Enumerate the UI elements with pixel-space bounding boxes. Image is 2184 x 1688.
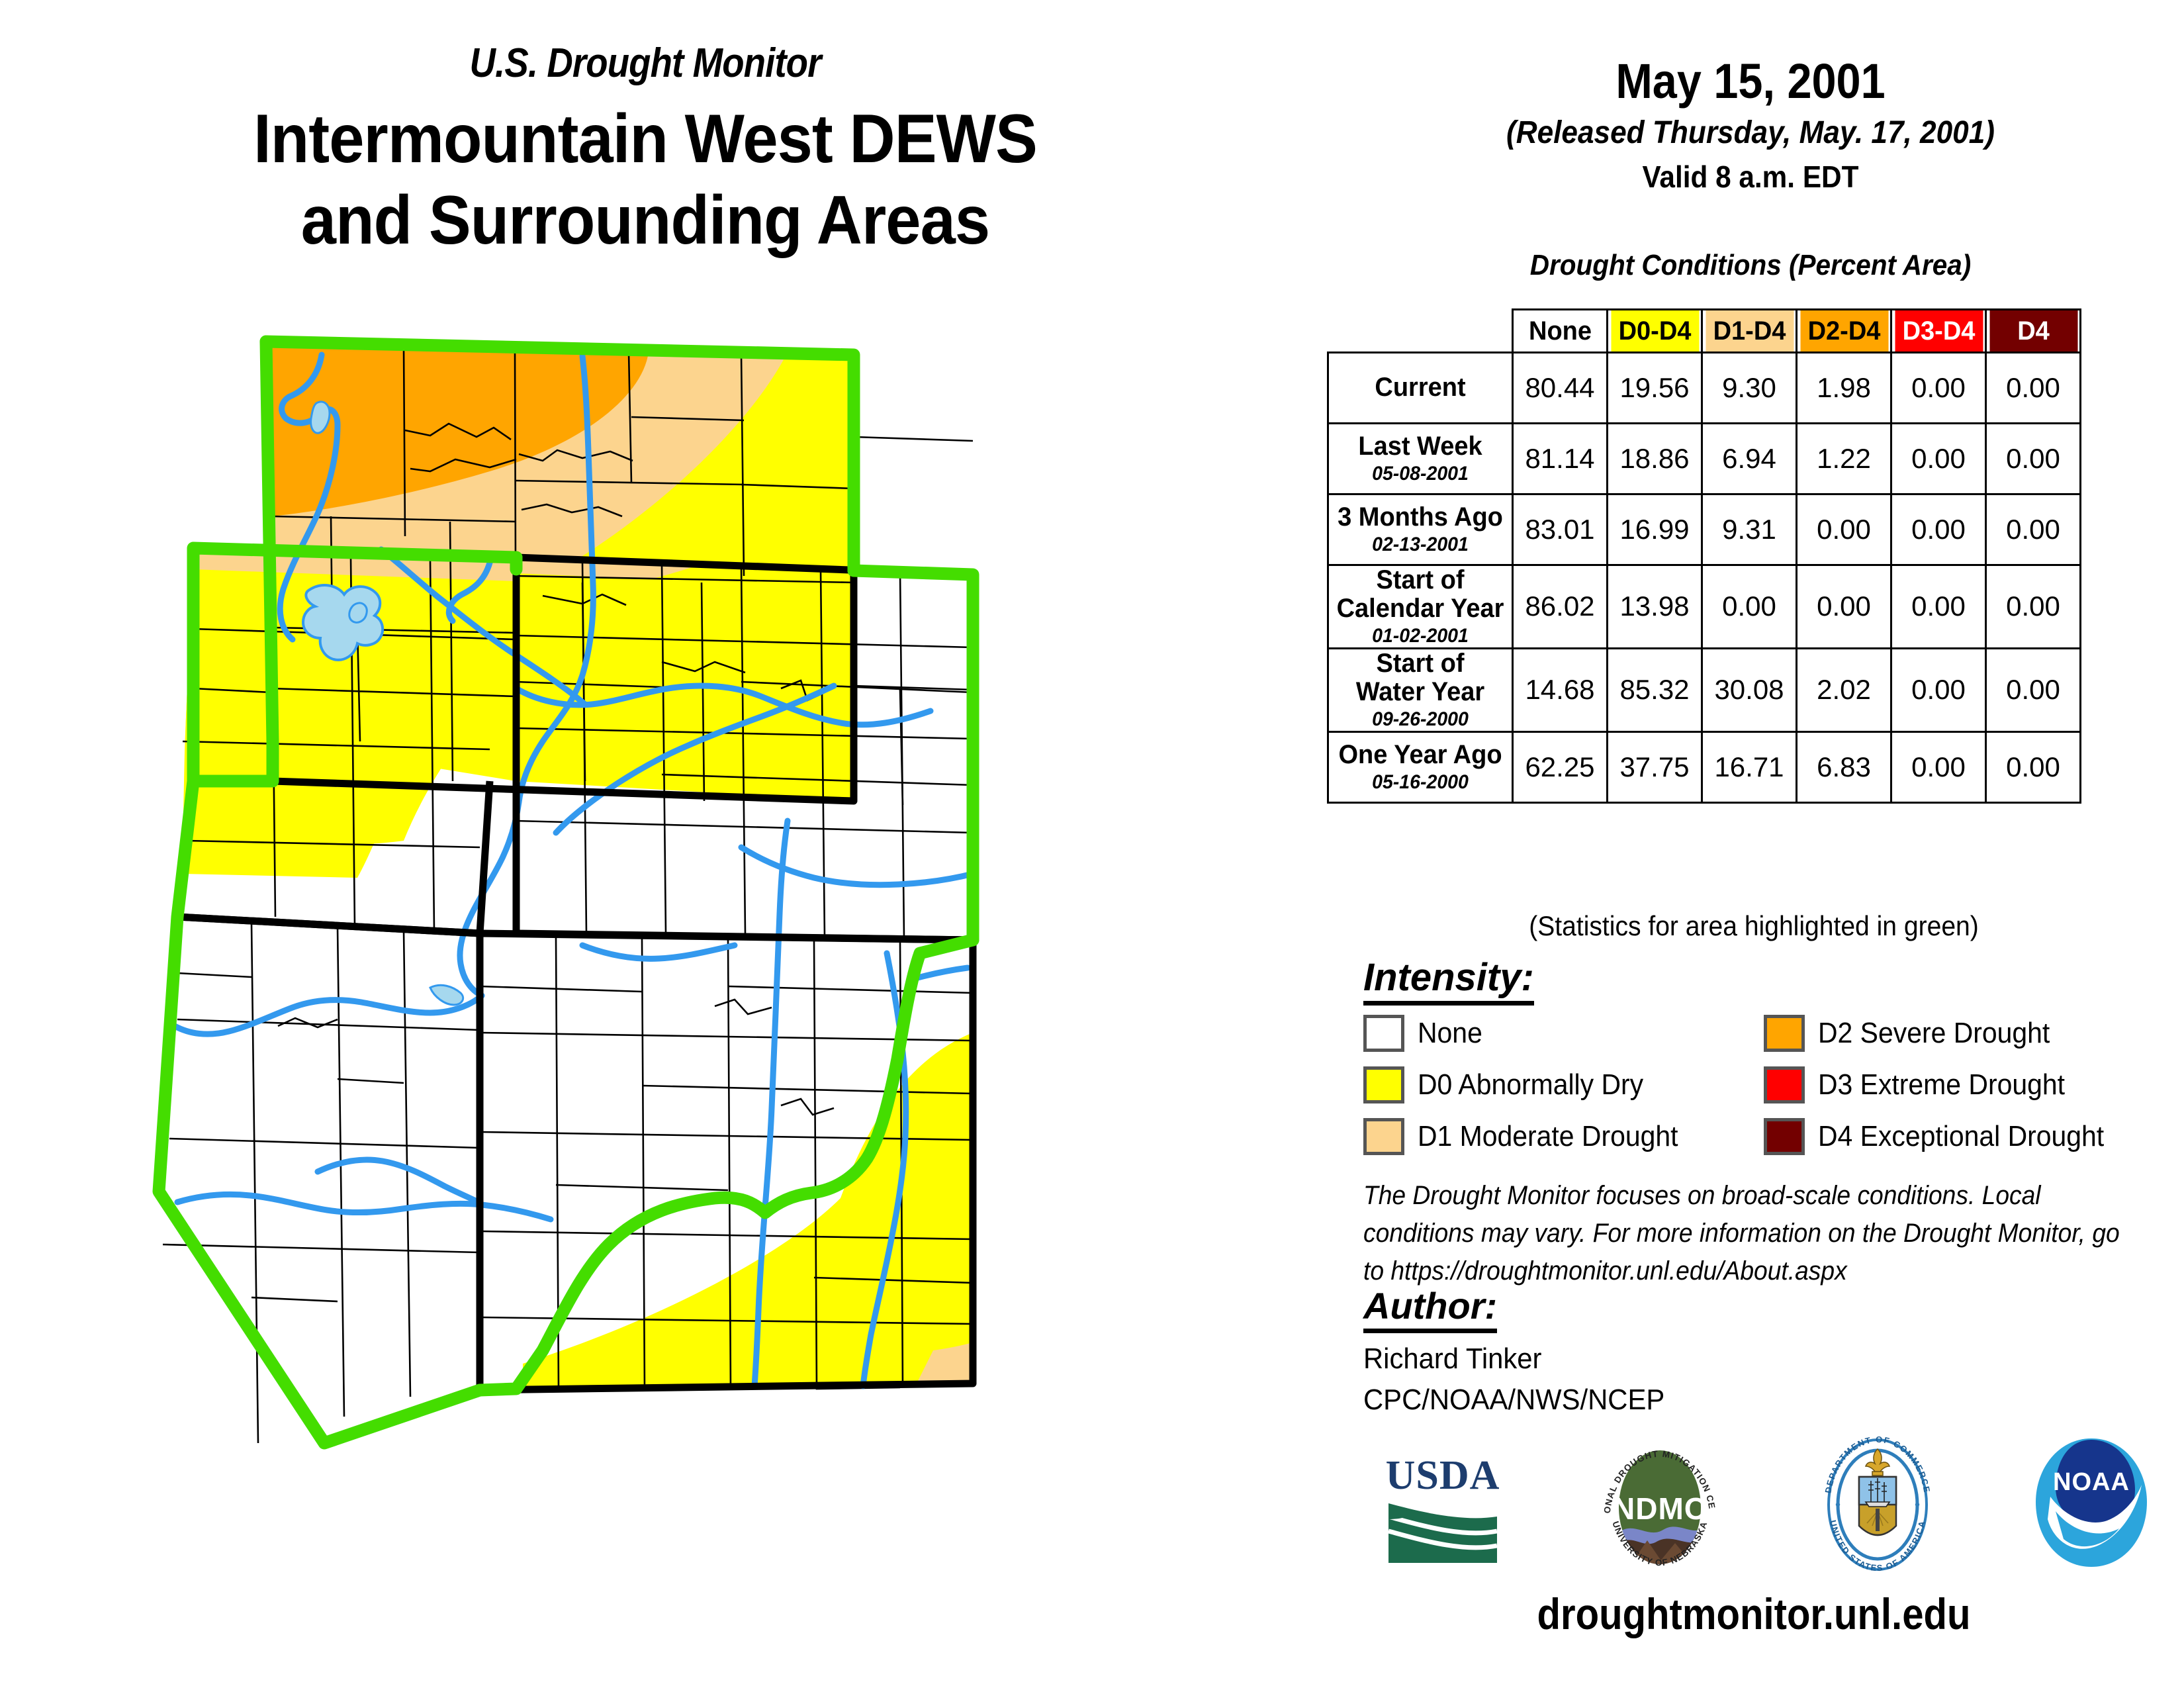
author-heading: Author: bbox=[1363, 1284, 1497, 1333]
cell-d2-d4: 1.98 bbox=[1797, 353, 1891, 424]
author-info: Richard Tinker CPC/NOAA/NWS/NCEP bbox=[1363, 1338, 1664, 1421]
cell-d3-d4: 0.00 bbox=[1891, 424, 1986, 494]
release-date: (Released Thursday, May. 17, 2001) bbox=[1351, 115, 2149, 151]
legend-label: D3 Extreme Drought bbox=[1818, 1068, 2065, 1102]
page-title-line2: and Surrounding Areas bbox=[52, 180, 1239, 261]
column-header-d4: D4 bbox=[1988, 310, 2078, 353]
table-row: Last Week05-08-200181.1418.866.941.220.0… bbox=[1328, 424, 2081, 494]
legend-item-d2: D2 Severe Drought bbox=[1764, 1015, 2164, 1052]
column-header-d3-d4: D3-D4 bbox=[1893, 310, 1983, 353]
legend-item-none: None bbox=[1363, 1015, 1764, 1052]
legend-label: None bbox=[1418, 1017, 1482, 1050]
table-footnote: (Statistics for area highlighted in gree… bbox=[1347, 910, 2160, 942]
logo-strip: USDA NDMC NATIONAL DROUGHT bbox=[1377, 1430, 2158, 1582]
cell-none: 80.44 bbox=[1513, 353, 1608, 424]
row-label: Start ofWater Year09-26-2000 bbox=[1328, 648, 1513, 731]
cell-d0-d4: 37.75 bbox=[1608, 731, 1702, 802]
row-date: 05-16-2000 bbox=[1334, 772, 1507, 793]
svg-text:USDA: USDA bbox=[1386, 1453, 1500, 1498]
author-affiliation: CPC/NOAA/NWS/NCEP bbox=[1363, 1380, 1664, 1421]
drought-conditions-table: NoneD0-D4D1-D4D2-D4D3-D4D4 Current80.441… bbox=[1327, 308, 2081, 804]
legend-label: D2 Severe Drought bbox=[1818, 1017, 2050, 1050]
row-label: One Year Ago05-16-2000 bbox=[1328, 731, 1513, 802]
cell-d1-d4: 0.00 bbox=[1702, 565, 1797, 649]
legend-label: D4 Exceptional Drought bbox=[1818, 1120, 2104, 1153]
svg-text:NOAA: NOAA bbox=[2053, 1468, 2130, 1496]
cell-d4: 0.00 bbox=[1986, 648, 2081, 731]
valid-date: May 15, 2001 bbox=[1361, 53, 2141, 109]
table-header-row: NoneD0-D4D1-D4D2-D4D3-D4D4 bbox=[1328, 310, 2081, 353]
row-label: 3 Months Ago02-13-2001 bbox=[1328, 494, 1513, 565]
column-header-none: None bbox=[1515, 310, 1605, 353]
disclaimer-text: The Drought Monitor focuses on broad-sca… bbox=[1363, 1177, 2120, 1289]
row-label: Start ofCalendar Year01-02-2001 bbox=[1328, 565, 1513, 649]
svg-text:NDMC: NDMC bbox=[1613, 1491, 1707, 1526]
row-label: Current bbox=[1328, 353, 1513, 424]
legend-label: D0 Abnormally Dry bbox=[1418, 1068, 1643, 1102]
cell-d2-d4: 6.83 bbox=[1797, 731, 1891, 802]
site-url: droughtmonitor.unl.edu bbox=[1369, 1589, 2138, 1639]
legend-swatch bbox=[1764, 1015, 1805, 1052]
valid-time: Valid 8 a.m. EDT bbox=[1351, 159, 2149, 195]
row-date: 02-13-2001 bbox=[1334, 534, 1507, 555]
cell-d1-d4: 9.30 bbox=[1702, 353, 1797, 424]
cell-d0-d4: 19.56 bbox=[1608, 353, 1702, 424]
legend-row: NoneD2 Severe Drought bbox=[1363, 1008, 2164, 1059]
cell-d3-d4: 0.00 bbox=[1891, 494, 1986, 565]
row-date: 01-02-2001 bbox=[1334, 626, 1507, 647]
legend-swatch bbox=[1764, 1118, 1805, 1155]
table-row: Start ofCalendar Year01-02-200186.0213.9… bbox=[1328, 565, 2081, 649]
cell-d2-d4: 0.00 bbox=[1797, 494, 1891, 565]
cell-none: 81.14 bbox=[1513, 424, 1608, 494]
column-header-d1-d4: D1-D4 bbox=[1704, 310, 1794, 353]
legend-item-d3: D3 Extreme Drought bbox=[1764, 1066, 2164, 1103]
cell-none: 62.25 bbox=[1513, 731, 1608, 802]
cell-none: 14.68 bbox=[1513, 648, 1608, 731]
legend-swatch bbox=[1363, 1118, 1404, 1155]
row-date: 09-26-2000 bbox=[1334, 709, 1507, 730]
cell-none: 83.01 bbox=[1513, 494, 1608, 565]
cell-d4: 0.00 bbox=[1986, 494, 2081, 565]
table-row: Start ofWater Year09-26-200014.6885.3230… bbox=[1328, 648, 2081, 731]
cell-d3-d4: 0.00 bbox=[1891, 565, 1986, 649]
table-caption: Drought Conditions (Percent Area) bbox=[1351, 249, 2149, 282]
cell-d0-d4: 16.99 bbox=[1608, 494, 1702, 565]
cell-d4: 0.00 bbox=[1986, 731, 2081, 802]
table-row: One Year Ago05-16-200062.2537.7516.716.8… bbox=[1328, 731, 2081, 802]
legend-item-d0: D0 Abnormally Dry bbox=[1363, 1066, 1764, 1103]
column-header-d0-d4: D0-D4 bbox=[1610, 310, 1700, 353]
cell-d2-d4: 2.02 bbox=[1797, 648, 1891, 731]
drought-map bbox=[119, 318, 1152, 1562]
cell-d0-d4: 13.98 bbox=[1608, 565, 1702, 649]
legend-label: D1 Moderate Drought bbox=[1418, 1120, 1678, 1153]
cell-d4: 0.00 bbox=[1986, 353, 2081, 424]
cell-d1-d4: 6.94 bbox=[1702, 424, 1797, 494]
intensity-heading: Intensity: bbox=[1363, 955, 1534, 1006]
cell-d4: 0.00 bbox=[1986, 565, 2081, 649]
ndmc-logo: NDMC NATIONAL DROUGHT MITIGATION CENTER … bbox=[1590, 1433, 1729, 1579]
cell-d1-d4: 16.71 bbox=[1702, 731, 1797, 802]
legend-row: D0 Abnormally DryD3 Extreme Drought bbox=[1363, 1059, 2164, 1111]
table-corner-blank bbox=[1332, 310, 1508, 353]
table-row: 3 Months Ago02-13-200183.0116.999.310.00… bbox=[1328, 494, 2081, 565]
legend-swatch bbox=[1764, 1066, 1805, 1103]
cell-d1-d4: 9.31 bbox=[1702, 494, 1797, 565]
doc-logo: DEPARTMENT OF COMMERCE UNITED STATES OF … bbox=[1811, 1433, 1944, 1579]
noaa-logo: NOAA bbox=[2025, 1433, 2158, 1579]
legend-swatch bbox=[1363, 1066, 1404, 1103]
legend-swatch bbox=[1363, 1015, 1404, 1052]
cell-d3-d4: 0.00 bbox=[1891, 353, 1986, 424]
column-header-d2-d4: D2-D4 bbox=[1799, 310, 1889, 353]
usda-logo: USDA bbox=[1377, 1438, 1509, 1574]
cell-d0-d4: 18.86 bbox=[1608, 424, 1702, 494]
title-block: U.S. Drought Monitor Intermountain West … bbox=[0, 40, 1291, 261]
author-name: Richard Tinker bbox=[1363, 1338, 1664, 1380]
table-row: Current80.4419.569.301.980.000.00 bbox=[1328, 353, 2081, 424]
table-body: Current80.4419.569.301.980.000.00Last We… bbox=[1328, 353, 2081, 803]
cell-d0-d4: 85.32 bbox=[1608, 648, 1702, 731]
cell-d3-d4: 0.00 bbox=[1891, 731, 1986, 802]
legend-item-d4: D4 Exceptional Drought bbox=[1764, 1118, 2164, 1155]
page-title-line1: Intermountain West DEWS bbox=[52, 99, 1239, 180]
cell-d1-d4: 30.08 bbox=[1702, 648, 1797, 731]
row-label: Last Week05-08-2001 bbox=[1328, 424, 1513, 494]
date-block: May 15, 2001 (Released Thursday, May. 17… bbox=[1317, 53, 2184, 195]
row-date: 05-08-2001 bbox=[1334, 463, 1507, 485]
cell-d4: 0.00 bbox=[1986, 424, 2081, 494]
cell-d2-d4: 0.00 bbox=[1797, 565, 1891, 649]
cell-d2-d4: 1.22 bbox=[1797, 424, 1891, 494]
legend-row: D1 Moderate DroughtD4 Exceptional Drough… bbox=[1363, 1111, 2164, 1162]
cell-d3-d4: 0.00 bbox=[1891, 648, 1986, 731]
cell-none: 86.02 bbox=[1513, 565, 1608, 649]
intensity-legend: NoneD2 Severe DroughtD0 Abnormally DryD3… bbox=[1363, 1008, 2164, 1162]
program-name: U.S. Drought Monitor bbox=[77, 40, 1213, 87]
legend-item-d1: D1 Moderate Drought bbox=[1363, 1118, 1764, 1155]
